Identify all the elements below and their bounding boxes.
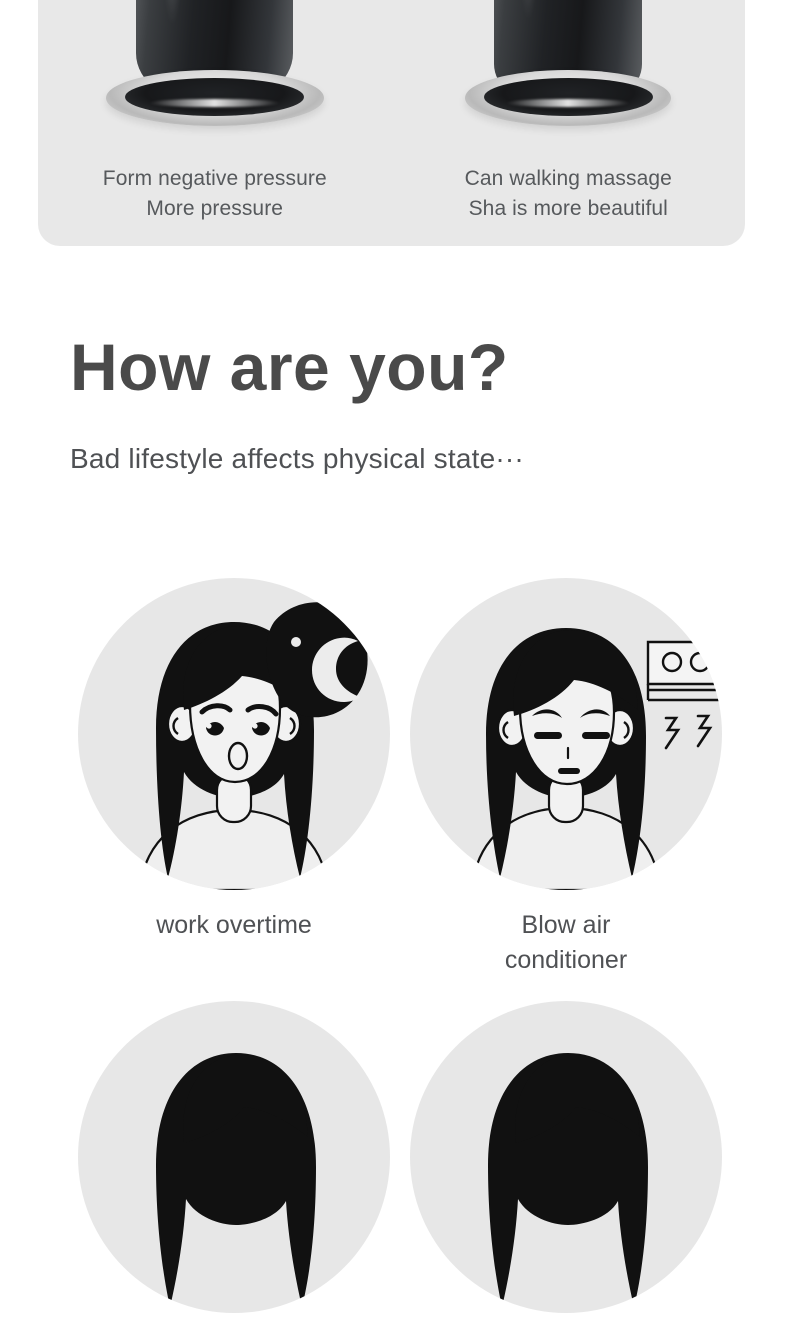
cup-base-gloss bbox=[149, 99, 280, 107]
page-title: How are you? bbox=[70, 334, 730, 400]
cold-air-zigzag-icon bbox=[666, 716, 710, 748]
cupping-cup-walking-massage-image bbox=[453, 0, 683, 134]
product-feature-caption: Can walking massage Sha is more beautifu… bbox=[465, 164, 672, 224]
product-feature-item-2: Can walking massage Sha is more beautifu… bbox=[392, 0, 746, 246]
woman-with-crescent-moon-night-illustration bbox=[78, 578, 390, 890]
symptom-illustration-disc bbox=[410, 1001, 722, 1313]
woman-portrait-cropped-right-illustration bbox=[410, 1001, 722, 1313]
symptom-item-work-overtime: work overtime bbox=[68, 578, 400, 977]
product-feature-grid: Form negative pressure More pressure Can… bbox=[38, 0, 745, 246]
cup-highlight bbox=[165, 0, 181, 27]
product-feature-card: Form negative pressure More pressure Can… bbox=[38, 0, 745, 246]
air-conditioner-icon bbox=[648, 642, 722, 700]
cup-base-inner bbox=[125, 78, 304, 116]
symptom-item-blow-air-conditioner: Blow air conditioner bbox=[400, 578, 732, 977]
symptom-item-next-right bbox=[400, 1001, 732, 1331]
symptom-row: work overtime bbox=[68, 578, 732, 977]
star-dot-icon bbox=[291, 637, 301, 647]
cup-base-gloss bbox=[506, 99, 630, 107]
woman-with-air-conditioner-illustration bbox=[410, 578, 722, 890]
page-subtitle: Bad lifestyle affects physical state··· bbox=[70, 400, 730, 476]
cup-base-inner bbox=[484, 78, 653, 116]
symptom-illustration-disc bbox=[78, 1001, 390, 1313]
symptom-item-next-left bbox=[68, 1001, 400, 1331]
cupping-cup-negative-pressure-image bbox=[100, 0, 330, 134]
section-heading-block: How are you? Bad lifestyle affects physi… bbox=[70, 334, 730, 476]
symptom-illustration-disc bbox=[410, 578, 722, 890]
symptom-illustration-disc bbox=[78, 578, 390, 890]
symptom-row bbox=[68, 1001, 732, 1331]
symptom-label: work overtime bbox=[156, 908, 312, 943]
product-feature-caption: Form negative pressure More pressure bbox=[103, 164, 327, 224]
symptom-grid: work overtime bbox=[68, 578, 732, 1331]
symptom-label: Blow air conditioner bbox=[505, 908, 627, 977]
cup-highlight bbox=[521, 0, 536, 22]
woman-portrait-cropped-left-illustration bbox=[78, 1001, 390, 1313]
product-feature-item-1: Form negative pressure More pressure bbox=[38, 0, 392, 246]
